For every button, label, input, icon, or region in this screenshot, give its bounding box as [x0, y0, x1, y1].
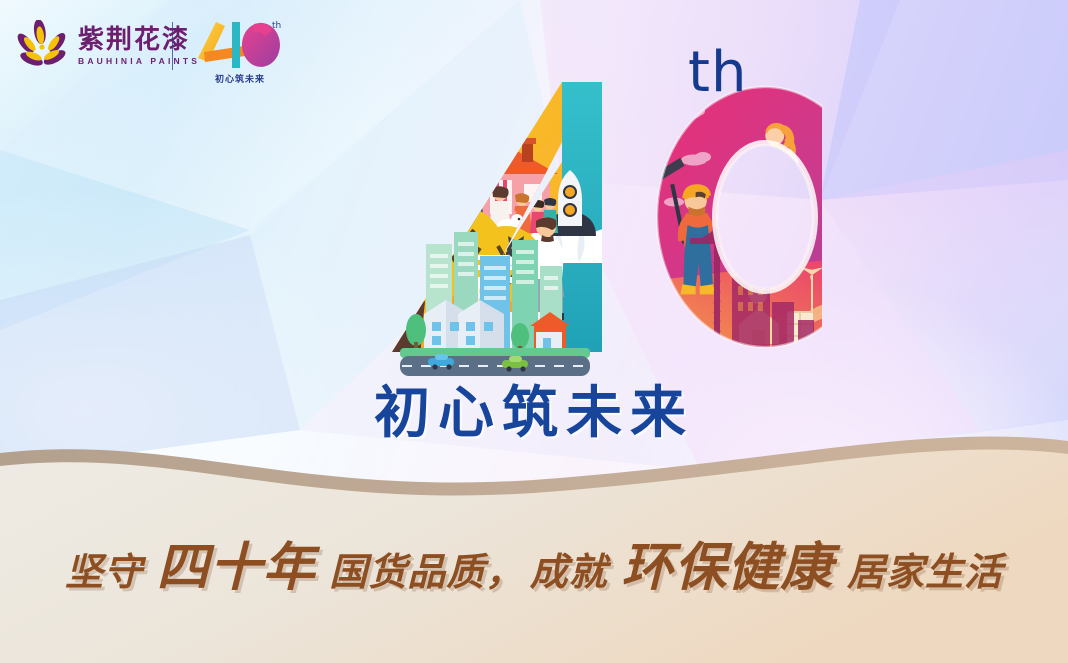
headline-part-5: 环保健康 — [621, 525, 833, 600]
motion-lines — [320, 274, 374, 326]
main-slogan: 初心筑未来 — [0, 368, 1068, 449]
anniversary-poster: 紫荆花漆 BAUHINIA PAINTS — [0, 0, 1068, 663]
headline-part-3: 国货品质， — [329, 541, 524, 596]
bauhinia-flower-icon — [16, 20, 68, 72]
headline-part-1: 坚守 — [65, 541, 143, 596]
brand-name-cn: 紫荆花漆 — [78, 26, 200, 53]
digit-zero-group — [635, 72, 822, 372]
bottom-headline: 坚守 四十年 国货品质， 成就 环保健康 居家生活 — [0, 525, 1068, 600]
svg-text:th: th — [272, 21, 281, 31]
header-divider — [172, 22, 173, 70]
anniversary-suffix: th — [688, 40, 747, 105]
brand-name-en: BAUHINIA PAINTS — [78, 56, 200, 66]
headline-part-4: 成就 — [530, 541, 608, 596]
headline-part-2: 四十年 — [157, 525, 316, 600]
headline-part-6: 居家生活 — [847, 541, 1003, 596]
